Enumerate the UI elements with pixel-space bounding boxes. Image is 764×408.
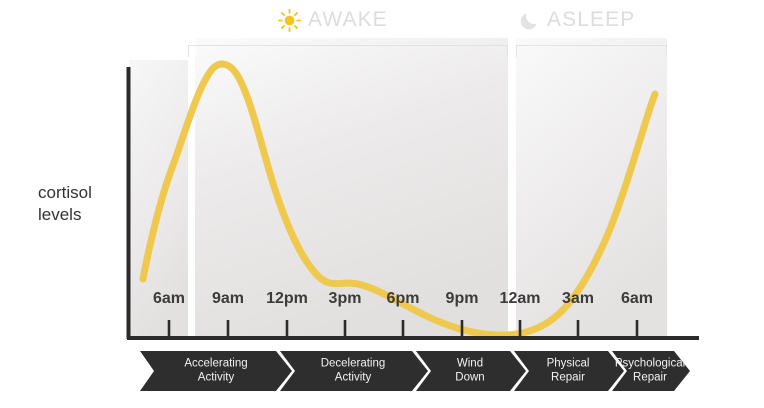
- stage-chevron-2: [280, 351, 428, 391]
- x-tick-label-8: 6am: [621, 290, 653, 308]
- y-axis-title-line2: levels: [38, 204, 124, 226]
- y-axis-title: cortisol levels: [38, 182, 124, 226]
- activity-stage-band: AcceleratingActivityDeceleratingActivity…: [140, 351, 690, 391]
- y-axis-title-line1: cortisol: [38, 182, 124, 204]
- moon-icon: [519, 10, 540, 31]
- stage-chevron-1: [140, 351, 292, 391]
- x-tick-label-5: 9pm: [446, 290, 479, 308]
- x-tick-label-2: 12pm: [266, 290, 308, 308]
- stage-chevron-4: [514, 351, 624, 391]
- awake-range-bracket: [188, 45, 508, 57]
- x-tick-label-1: 9am: [212, 290, 244, 308]
- x-tick-label-4: 6pm: [387, 290, 420, 308]
- sun-icon: [278, 9, 301, 32]
- asleep-phase-text: ASLEEP: [547, 8, 635, 32]
- awake-phase-label: AWAKE: [278, 8, 388, 32]
- x-tick-label-6: 12am: [500, 290, 541, 308]
- x-tick-label-0: 6am: [153, 290, 185, 308]
- asleep-phase-label: ASLEEP: [519, 8, 635, 32]
- x-tick-label-7: 3am: [562, 290, 594, 308]
- activity-stage-chevrons: [140, 351, 690, 391]
- stage-chevron-3: [416, 351, 526, 391]
- cortisol-chart-figure: AWAKE ASLEEP cortisol levels 6am9am12pm3…: [0, 0, 764, 408]
- awake-phase-text: AWAKE: [308, 8, 388, 32]
- asleep-range-bracket: [516, 45, 667, 57]
- x-tick-label-3: 3pm: [329, 290, 362, 308]
